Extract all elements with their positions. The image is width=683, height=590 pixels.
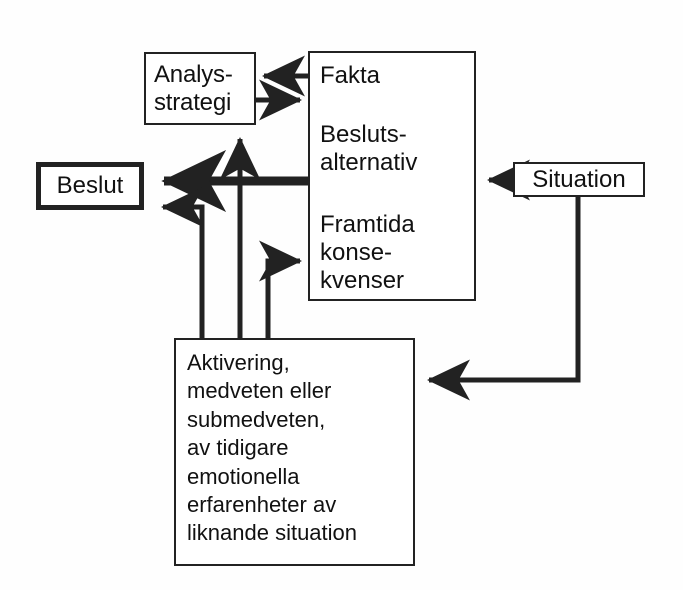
node-aktivering-label: Aktivering, medveten eller submedveten, … <box>176 340 413 548</box>
node-segment-framtida-konsekvenser: Framtida konse- kvenser <box>320 211 415 295</box>
node-situation-label: Situation <box>532 166 625 194</box>
node-beslut-label: Beslut <box>57 172 124 200</box>
edge-aktivering-to-beslut <box>163 207 202 338</box>
node-fakta-beslutsalternativ-konsekvenser[interactable]: Fakta Besluts- alternativ Framtida konse… <box>308 51 476 301</box>
node-segment-fakta: Fakta <box>320 62 380 90</box>
node-segment-beslutsalternativ: Besluts- alternativ <box>320 121 417 177</box>
node-situation[interactable]: Situation <box>513 162 645 197</box>
node-analys-strategi-label: Analys- strategi <box>146 61 233 117</box>
node-beslut[interactable]: Beslut <box>36 162 144 210</box>
node-analys-strategi[interactable]: Analys- strategi <box>144 52 256 125</box>
diagram-canvas: Analys- strategi Fakta Besluts- alternat… <box>0 0 683 590</box>
node-aktivering[interactable]: Aktivering, medveten eller submedveten, … <box>174 338 415 566</box>
edge-aktivering-to-konsekvenser <box>268 261 300 338</box>
